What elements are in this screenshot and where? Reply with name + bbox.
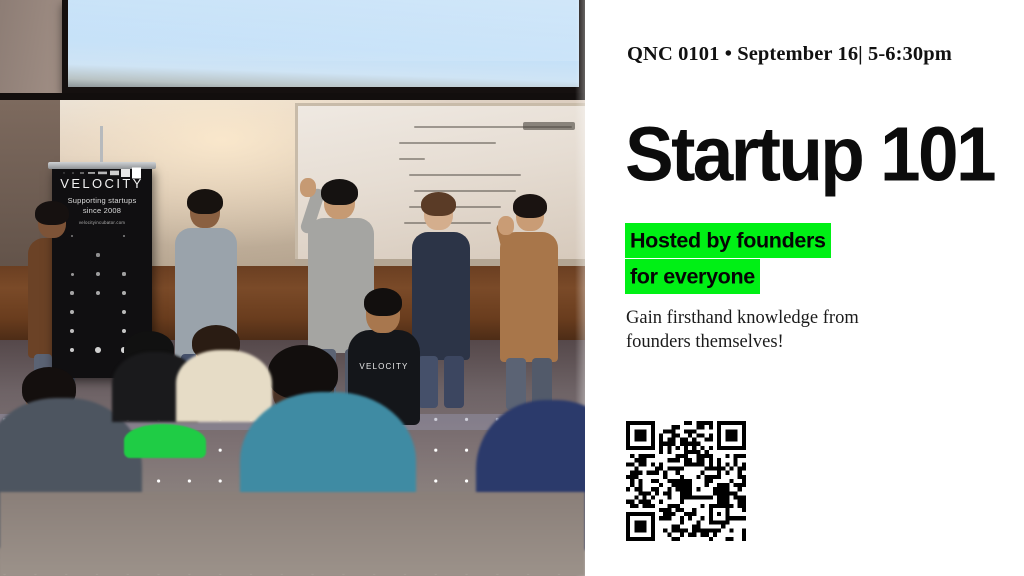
- event-details-line: QNC 0101 • September 16| 5-6:30pm: [627, 43, 952, 66]
- banner-dot: [70, 291, 74, 295]
- panelist-body: [412, 232, 470, 360]
- audience-green-jacket: [124, 424, 206, 458]
- banner-dot: [122, 329, 127, 334]
- poster-content: QNC 0101 • September 16| 5-6:30pm Startu…: [585, 0, 1024, 576]
- banner-dot: [96, 253, 99, 256]
- projector-screen: [62, 0, 585, 93]
- banner-dot: [122, 291, 126, 295]
- subheading-line-2: for everyone: [625, 259, 760, 294]
- event-poster: VELOCITY VELOCITY Supporting start: [0, 0, 1024, 576]
- panelist-raised-hand: [300, 178, 316, 197]
- panelist-hair: [513, 194, 547, 218]
- subheading: Hosted by founders for everyone: [625, 222, 885, 296]
- panelist-leg: [506, 358, 526, 410]
- banner-dot: [71, 273, 74, 276]
- panelist-hair: [421, 192, 456, 216]
- panelist-raised-hand: [498, 216, 514, 235]
- panelist-hair: [187, 189, 223, 214]
- qr-code-icon[interactable]: [626, 421, 746, 541]
- banner-dot: [123, 235, 125, 237]
- seat-row: [0, 492, 585, 576]
- subheading-line-1: Hosted by founders: [625, 223, 831, 258]
- banner-dot: [70, 329, 74, 333]
- banner-dot: [70, 348, 75, 353]
- event-photo: VELOCITY VELOCITY Supporting start: [0, 0, 585, 576]
- page-title: Startup 101: [625, 116, 994, 193]
- banner-dot: [70, 310, 74, 314]
- qr-code[interactable]: [626, 421, 746, 541]
- panelist-hair: [321, 179, 358, 205]
- panelist-leg: [418, 356, 438, 408]
- banner-dot: [95, 347, 101, 353]
- banner-dot: [96, 291, 100, 295]
- banner-dot: [71, 235, 73, 237]
- banner-wordmark: VELOCITY: [52, 176, 152, 191]
- tshirt-velocity-wordmark: VELOCITY: [352, 362, 416, 371]
- banner-url: velocityincubator.com: [52, 220, 152, 225]
- banner-dot: [122, 272, 125, 275]
- whiteboard-corner-note: [523, 122, 575, 130]
- description-text: Gain firsthand knowledge from founders t…: [626, 306, 896, 355]
- panelist-hair: [35, 201, 69, 225]
- screen-sheen: [68, 0, 579, 61]
- foreground-speaker-hair: [364, 288, 402, 316]
- banner-dot: [96, 272, 100, 276]
- panelist-leg: [444, 356, 464, 408]
- banner-dot: [122, 310, 126, 314]
- audience-body: [176, 350, 272, 422]
